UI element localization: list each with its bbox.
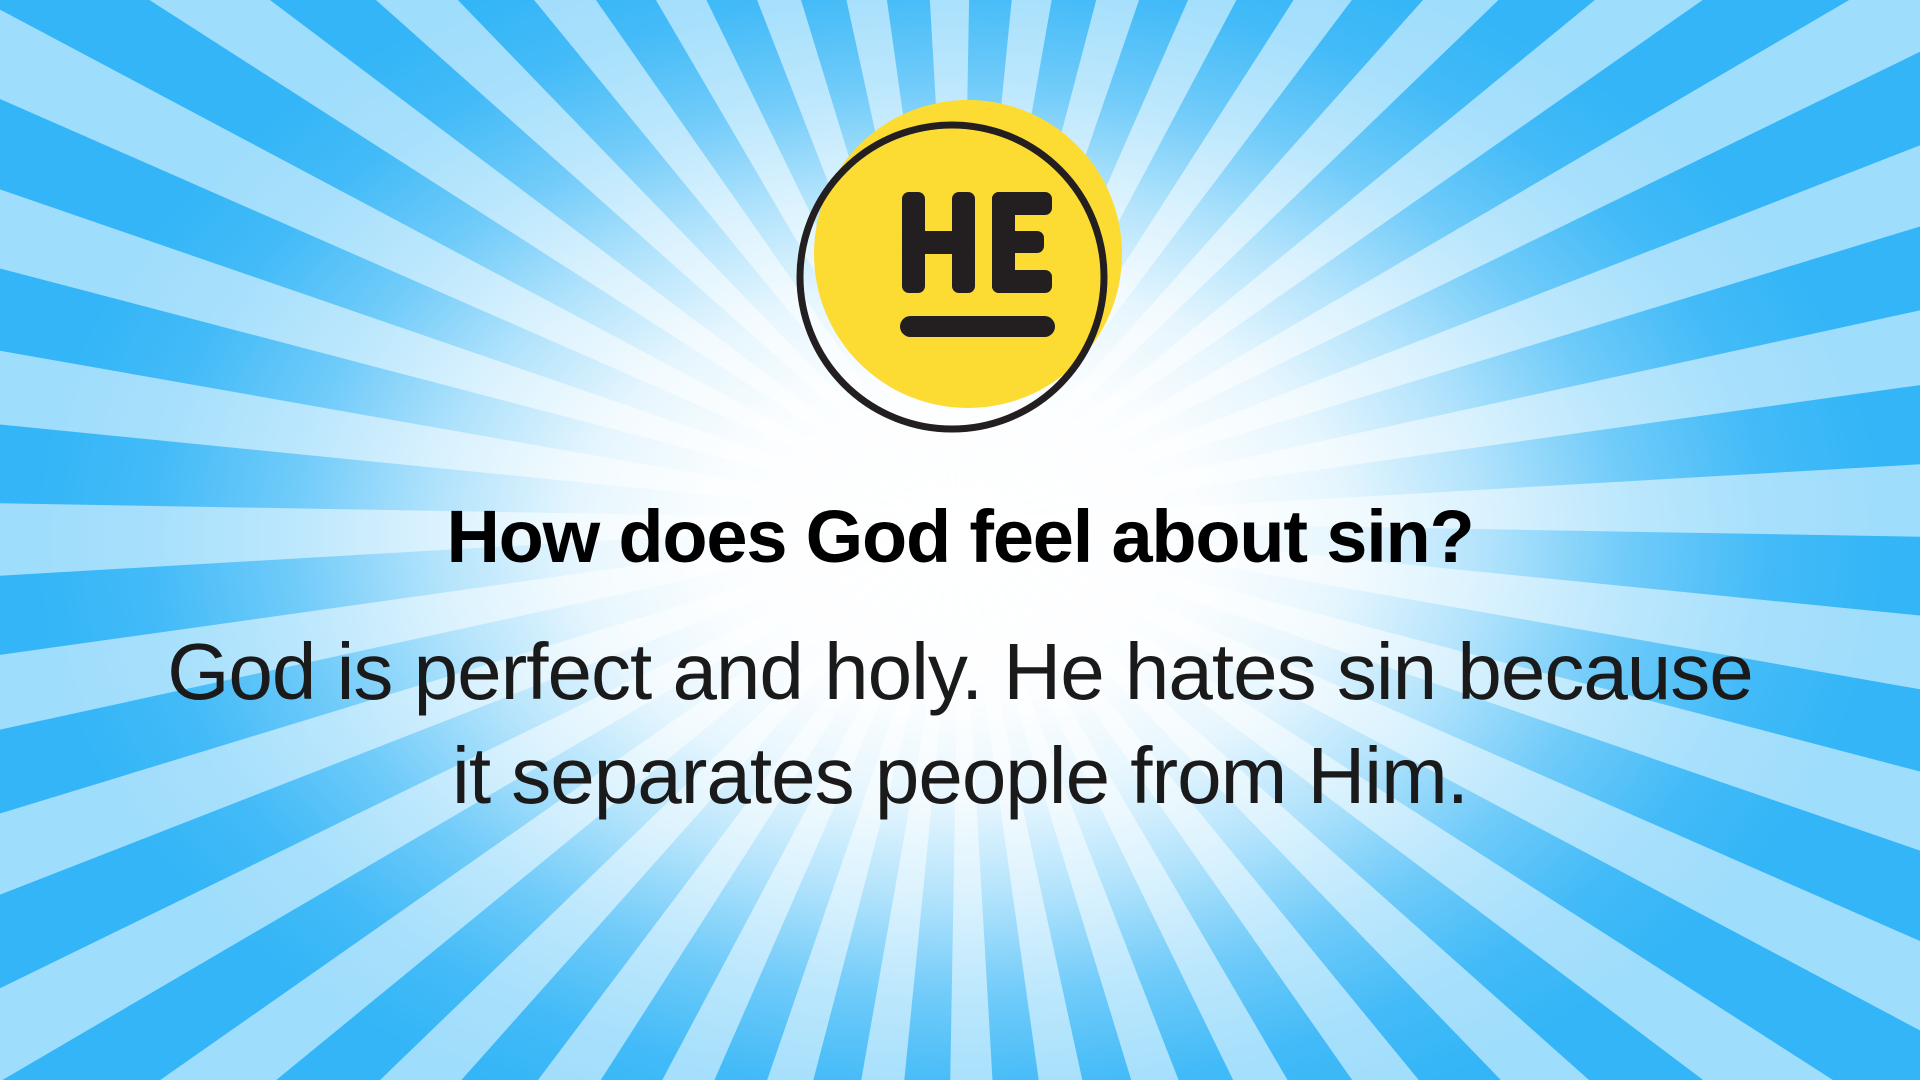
body-line-1: God is perfect and holy. He hates sin be… bbox=[60, 620, 1860, 724]
body-line-2: it separates people from Him. bbox=[60, 724, 1860, 828]
slide-content: How does God feel about sin? God is perf… bbox=[0, 0, 1920, 1080]
he-logo bbox=[792, 100, 1128, 444]
body-text: God is perfect and holy. He hates sin be… bbox=[0, 620, 1920, 828]
slide-canvas: How does God feel about sin? God is perf… bbox=[0, 0, 1920, 1080]
page-title: How does God feel about sin? bbox=[0, 498, 1920, 576]
logo-underline bbox=[900, 316, 1055, 337]
